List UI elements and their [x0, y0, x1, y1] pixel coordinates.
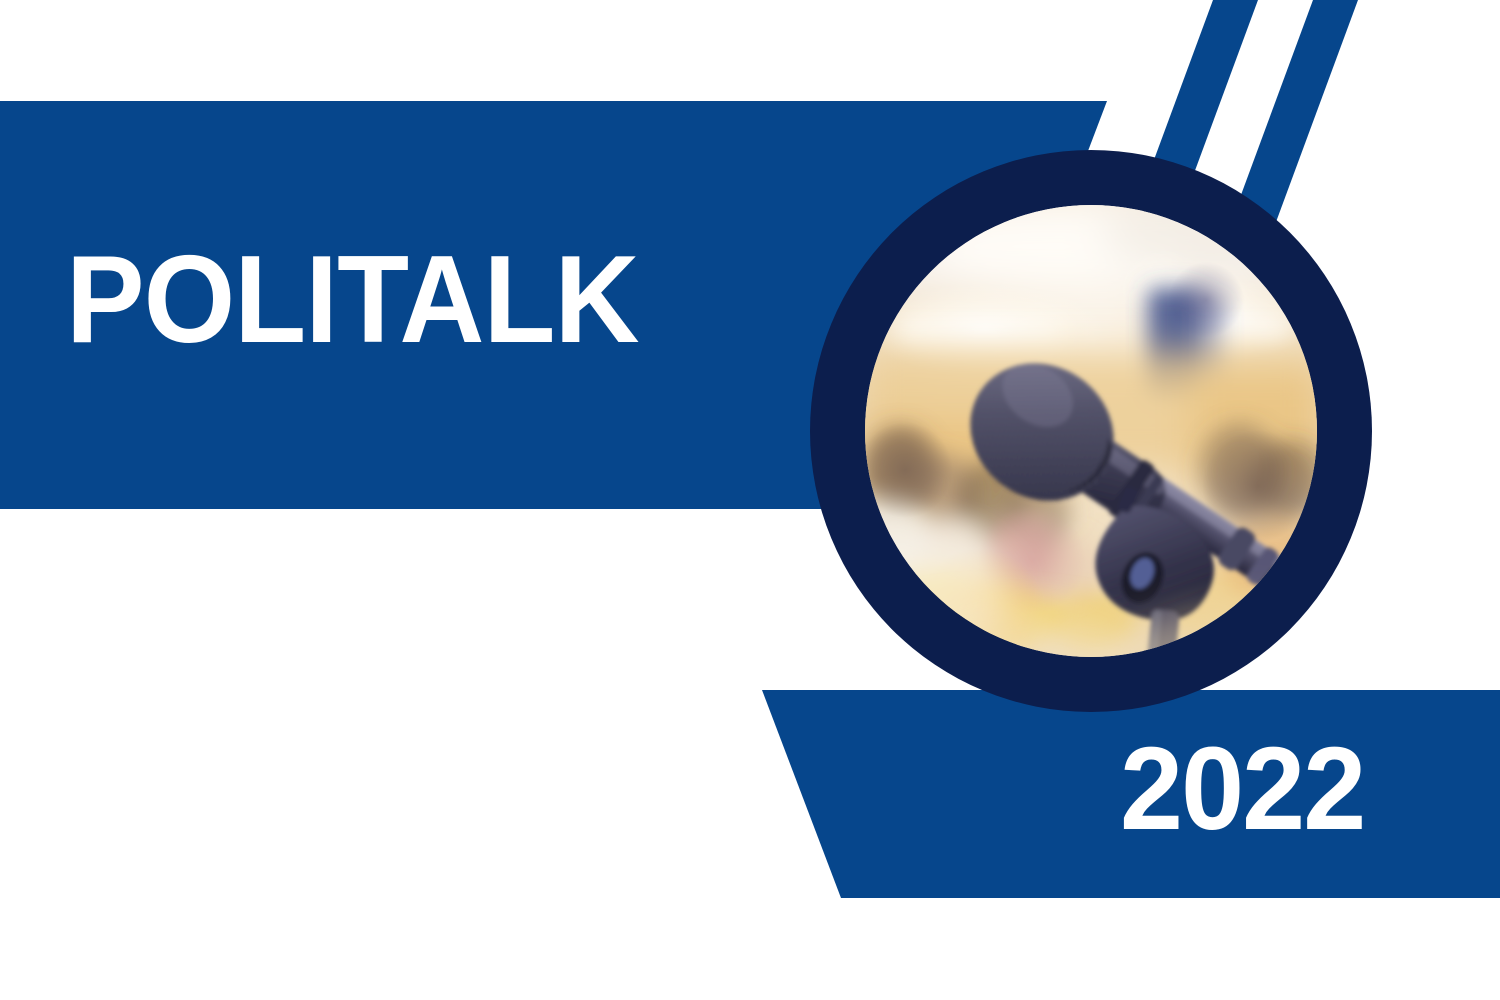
- year-label: 2022: [1120, 730, 1364, 848]
- poster-canvas: POLITALK 2022: [0, 0, 1500, 1000]
- page-title: POLITALK: [66, 238, 639, 362]
